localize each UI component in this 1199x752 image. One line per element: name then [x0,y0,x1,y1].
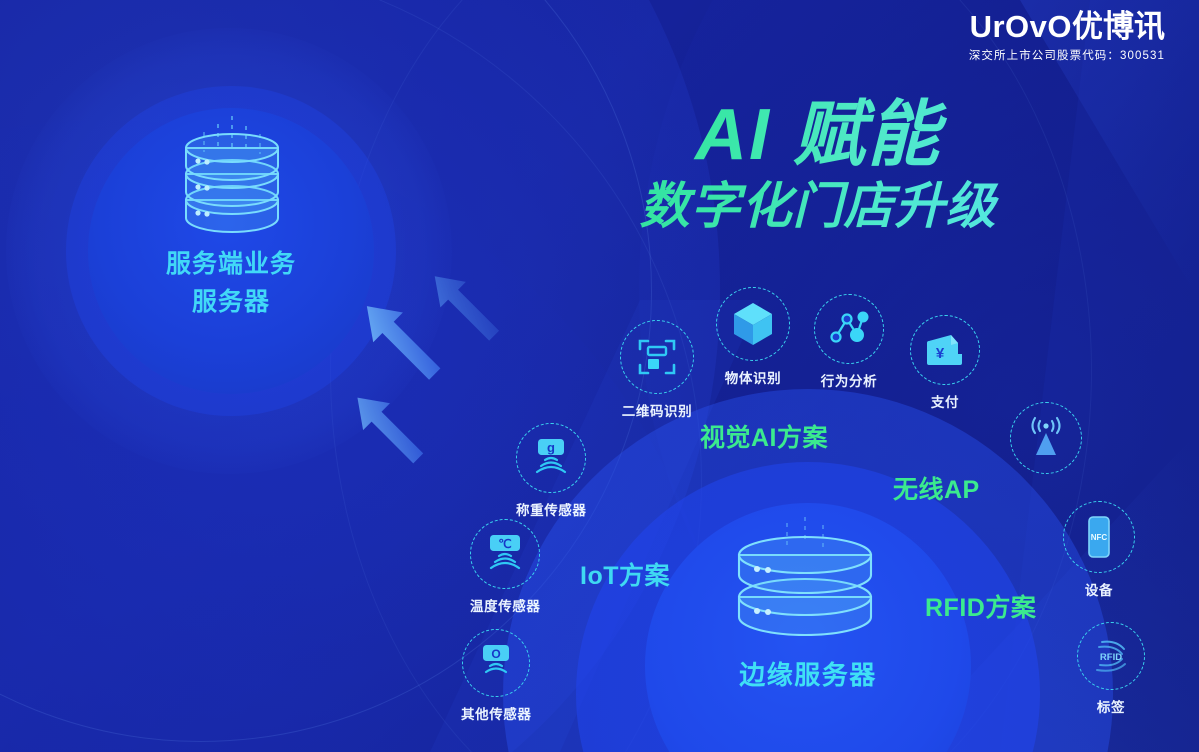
stock-code-line: 深交所上市公司股票代码：300531 [969,47,1165,63]
node-behavior-analysis[interactable]: 行为分析 [814,294,884,390]
node-weight-sensor[interactable]: g 称重传感器 [516,423,587,519]
node-object-recognition[interactable]: 物体识别 [716,287,790,387]
node-label: 二维码识别 [620,400,694,420]
solution-label-wireless-ap: 无线AP [893,470,980,506]
brand-logo: UrOvO优博讯 深交所上市公司股票代码：300531 [969,10,1165,63]
node-label: 标签 [1077,696,1145,716]
node-wireless-ap[interactable] [1010,402,1082,480]
other-sensor-icon: O [462,629,530,697]
weight-sensor-icon: g [516,423,586,493]
node-label: 设备 [1063,579,1135,599]
nfc-device-icon: NFC [1063,501,1135,573]
edge-server-label: 边缘服务器 [645,655,971,692]
node-label: 物体识别 [716,367,790,387]
svg-text:NFC: NFC [1091,533,1108,542]
title-line-1: AI 赋能 [588,96,1048,174]
logo-chinese-text: 优博讯 [1072,9,1165,44]
node-label: 行为分析 [814,370,884,390]
svg-text:O: O [492,647,501,661]
logo-latin-text: UrOvO [970,9,1072,44]
svg-text:℃: ℃ [499,537,512,551]
svg-text:¥: ¥ [936,345,945,362]
qr-scan-icon [620,320,694,394]
node-other-sensor[interactable]: O 其他传感器 [461,629,532,723]
node-payment[interactable]: ¥ 支付 [910,315,980,411]
title-line-2: 数字化门店升级 [588,176,1048,236]
solution-label-vision-ai: 视觉AI方案 [700,418,828,454]
logo-wordmark: UrOvO优博讯 [969,10,1165,44]
rfid-tag-icon: RFID [1077,622,1145,690]
cube-icon [716,287,790,361]
node-label: 其他传感器 [461,703,532,723]
wallet-yen-icon: ¥ [910,315,980,385]
node-label: 温度传感器 [470,595,541,615]
page-title: AI 赋能 数字化门店升级 [588,96,1048,236]
solution-label-rfid: RFID方案 [925,588,1036,624]
arrow-up-left-icon [422,264,507,349]
svg-text:g: g [547,440,555,455]
solution-label-iot: IoT方案 [580,556,670,592]
temperature-sensor-icon: ℃ [470,519,540,589]
arrow-up-left-icon [352,291,450,389]
node-qr-scan[interactable]: 二维码识别 [620,320,694,420]
node-label: 支付 [910,391,980,411]
arrow-up-left-icon [344,384,432,472]
network-graph-icon [814,294,884,364]
node-label: 称重传感器 [516,499,587,519]
svg-text:RFID: RFID [1100,652,1122,663]
slide-canvas: UrOvO优博讯 深交所上市公司股票代码：300531 AI 赋能 数字化门店升… [0,0,1199,752]
node-rfid-tag[interactable]: RFID 标签 [1077,622,1145,716]
node-temperature-sensor[interactable]: ℃ 温度传感器 [470,519,541,615]
database-stack-icon [168,122,296,242]
wireless-ap-antenna-icon [1010,402,1082,474]
database-stack-icon [731,527,879,639]
node-nfc-device[interactable]: NFC 设备 [1063,501,1135,599]
